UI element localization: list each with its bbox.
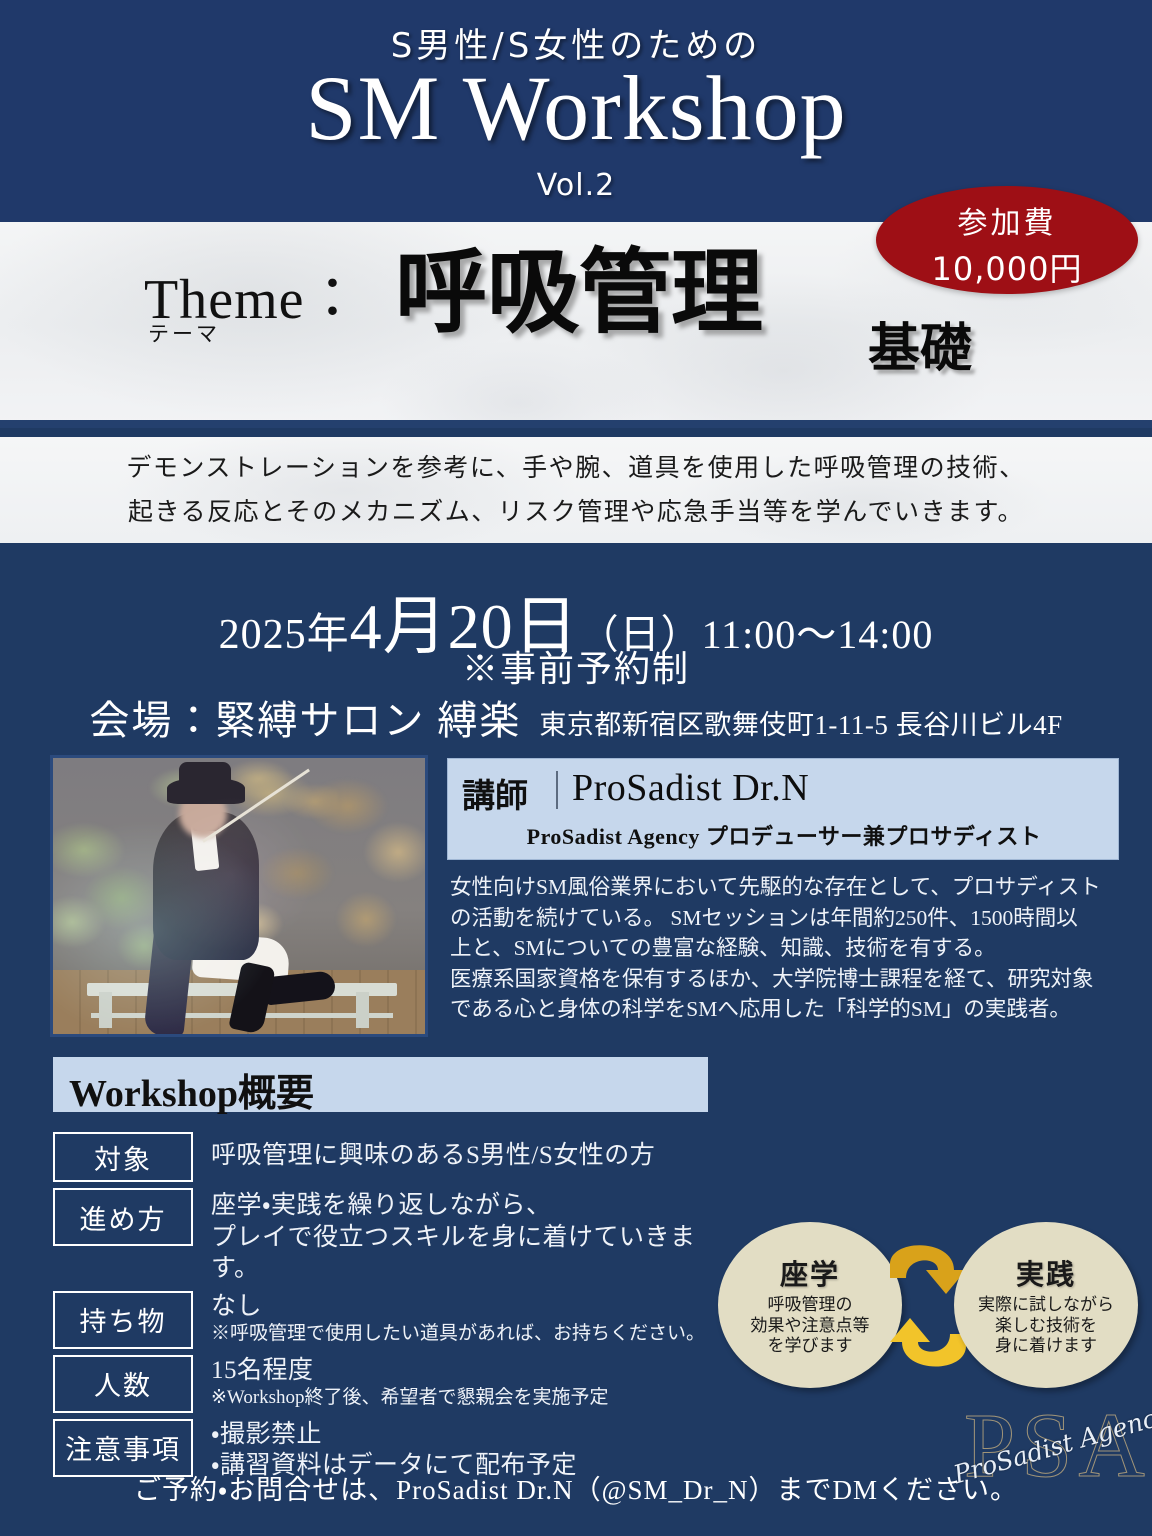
photo-color-haze [53,758,425,1034]
reservation-note: ※事前予約制 [0,640,1152,692]
description-line-1: デモンストレーションを参考に、手や腕、道具を使用した呼吸管理の技術、 [126,446,1025,490]
instructor-bio-line-3: 上と、SMについての豊富な経験、知識、技術を有する。 [450,933,1126,964]
theme-sub-text: 基礎 [868,306,972,381]
cycle-practice-desc-2: 楽しむ技術を [978,1316,1114,1337]
table-row: 進め方 座学・実践を繰り返しながら、 プレイで役立つスキルを身に着けていきます。 [53,1188,733,1285]
price-badge-label: 参加費 [876,198,1138,242]
table-row-value-main: なし [211,1291,733,1323]
venue-address: 東京都新宿区歌舞伎町1-11-5 長谷川ビル4F [539,710,1062,740]
table-row-key: 対象 [53,1132,193,1182]
table-row-value-main: 15名程度 [211,1355,733,1387]
venue-row: 会場：緊縛サロン 縛楽東京都新宿区歌舞伎町1-11-5 長谷川ビル4F [0,688,1152,746]
table-row-value-main: 座学・実践を繰り返しながら、 [211,1190,733,1222]
table-row-value-main-2: プレイで役立つスキルを身に着けていきます。 [211,1222,733,1285]
instructor-title-label: 講師 [462,769,528,817]
description-band: デモンストレーションを参考に、手や腕、道具を使用した呼吸管理の技術、 起きる反応… [0,437,1152,543]
instructor-role: ProSadist Agency プロデューサー兼プロサディスト [448,819,1120,851]
instructor-header-box: 講師 ProSadist Dr.N ProSadist Agency プロデュー… [447,758,1119,860]
description-line-2: 起きる反応とそのメカニズム、リスク管理や応急手当等を学んでいきます。 [128,490,1024,534]
cycle-practice-desc-1: 実際に試しながら [978,1295,1114,1316]
table-row: 人数 15名程度 ※Workshop終了後、希望者で懇親会を実施予定 [53,1355,733,1413]
table-row-value-main: ・撮影禁止 [211,1419,733,1451]
instructor-bio-line-2: の活動を続けている。 SMセッションは年間約250件、1500時間以 [450,903,1126,934]
hero-title: SM Workshop [0,62,1152,154]
workshop-overview-header: Workshop概要 [53,1057,708,1112]
poster-root: S男性/S女性のための SM Workshop Vol.2 Theme： テーマ… [0,0,1152,1536]
theme-label-ruby: テーマ [148,318,220,348]
cycle-lecture-desc-3: を学びます [751,1336,870,1357]
table-row-value: 15名程度 ※Workshop終了後、希望者で懇親会を実施予定 [193,1355,733,1411]
table-row-key: 進め方 [53,1188,193,1246]
price-badge-amount: 10,000円 [876,244,1138,290]
instructor-bio-line-4: 医療系国家資格を保有するほか、大学院博士課程を経て、研究対象 [450,964,1126,995]
workshop-overview-table: 対象 呼吸管理に興味のあるS男性/S女性の方 進め方 座学・実践を繰り返しながら… [53,1132,733,1488]
table-row-value: 座学・実践を繰り返しながら、 プレイで役立つスキルを身に着けていきます。 [193,1188,733,1285]
instructor-photo [50,755,428,1037]
cycle-node-practice: 実践 実際に試しながら 楽しむ技術を 身に着けます [954,1222,1138,1388]
instructor-name: ProSadist Dr.N [572,766,809,810]
table-row-key: 人数 [53,1355,193,1413]
table-row-value: なし ※呼吸管理で使用したい道具があれば、お持ちください。 [193,1291,733,1347]
cycle-node-practice-title: 実践 [1016,1253,1076,1293]
instructor-bio-line-5: である心と身体の科学をSMへ応用した「科学的SM」の実践者。 [450,994,1126,1025]
price-badge: 参加費 10,000円 [876,186,1138,294]
footer-contact-text: ご予約・お問合せは、ProSadist Dr.N（@SM_Dr_N）までDMくだ… [0,1468,1152,1507]
cycle-practice-desc-3: 身に着けます [978,1336,1114,1357]
instructor-bio: 女性向けSM風俗業界において先駆的な存在として、プロサディスト の活動を続けてい… [450,872,1126,1025]
cycle-lecture-desc-2: 効果や注意点等 [751,1316,870,1337]
instructor-bio-line-1: 女性向けSM風俗業界において先駆的な存在として、プロサディスト [450,872,1126,903]
table-row: 対象 呼吸管理に興味のあるS男性/S女性の方 [53,1132,733,1182]
cycle-lecture-desc-1: 呼吸管理の [751,1295,870,1316]
workshop-overview-title: Workshop概要 [69,1062,314,1117]
theme-main-text: 呼吸管理 [395,240,763,346]
cycle-node-lecture-desc: 呼吸管理の 効果や注意点等 を学びます [751,1295,870,1357]
table-row-value: 呼吸管理に興味のあるS男性/S女性の方 [193,1132,733,1172]
table-row-value-main: 呼吸管理に興味のあるS男性/S女性の方 [211,1140,733,1172]
table-row: 持ち物 なし ※呼吸管理で使用したい道具があれば、お持ちください。 [53,1291,733,1349]
table-row-value-note: ※Workshop終了後、希望者で懇親会を実施予定 [211,1386,733,1411]
instructor-divider [556,771,558,809]
table-row-key: 持ち物 [53,1291,193,1349]
venue-name: 会場：緊縛サロン 縛楽 [89,698,521,743]
learning-cycle-diagram: 座学 呼吸管理の 効果や注意点等 を学びます 実践 実際に試しながら 楽しむ技術… [718,1222,1138,1388]
cycle-node-practice-desc: 実際に試しながら 楽しむ技術を 身に着けます [978,1295,1114,1357]
cycle-node-lecture-title: 座学 [780,1253,840,1293]
table-row-value-note: ※呼吸管理で使用したい道具があれば、お持ちください。 [211,1322,733,1347]
